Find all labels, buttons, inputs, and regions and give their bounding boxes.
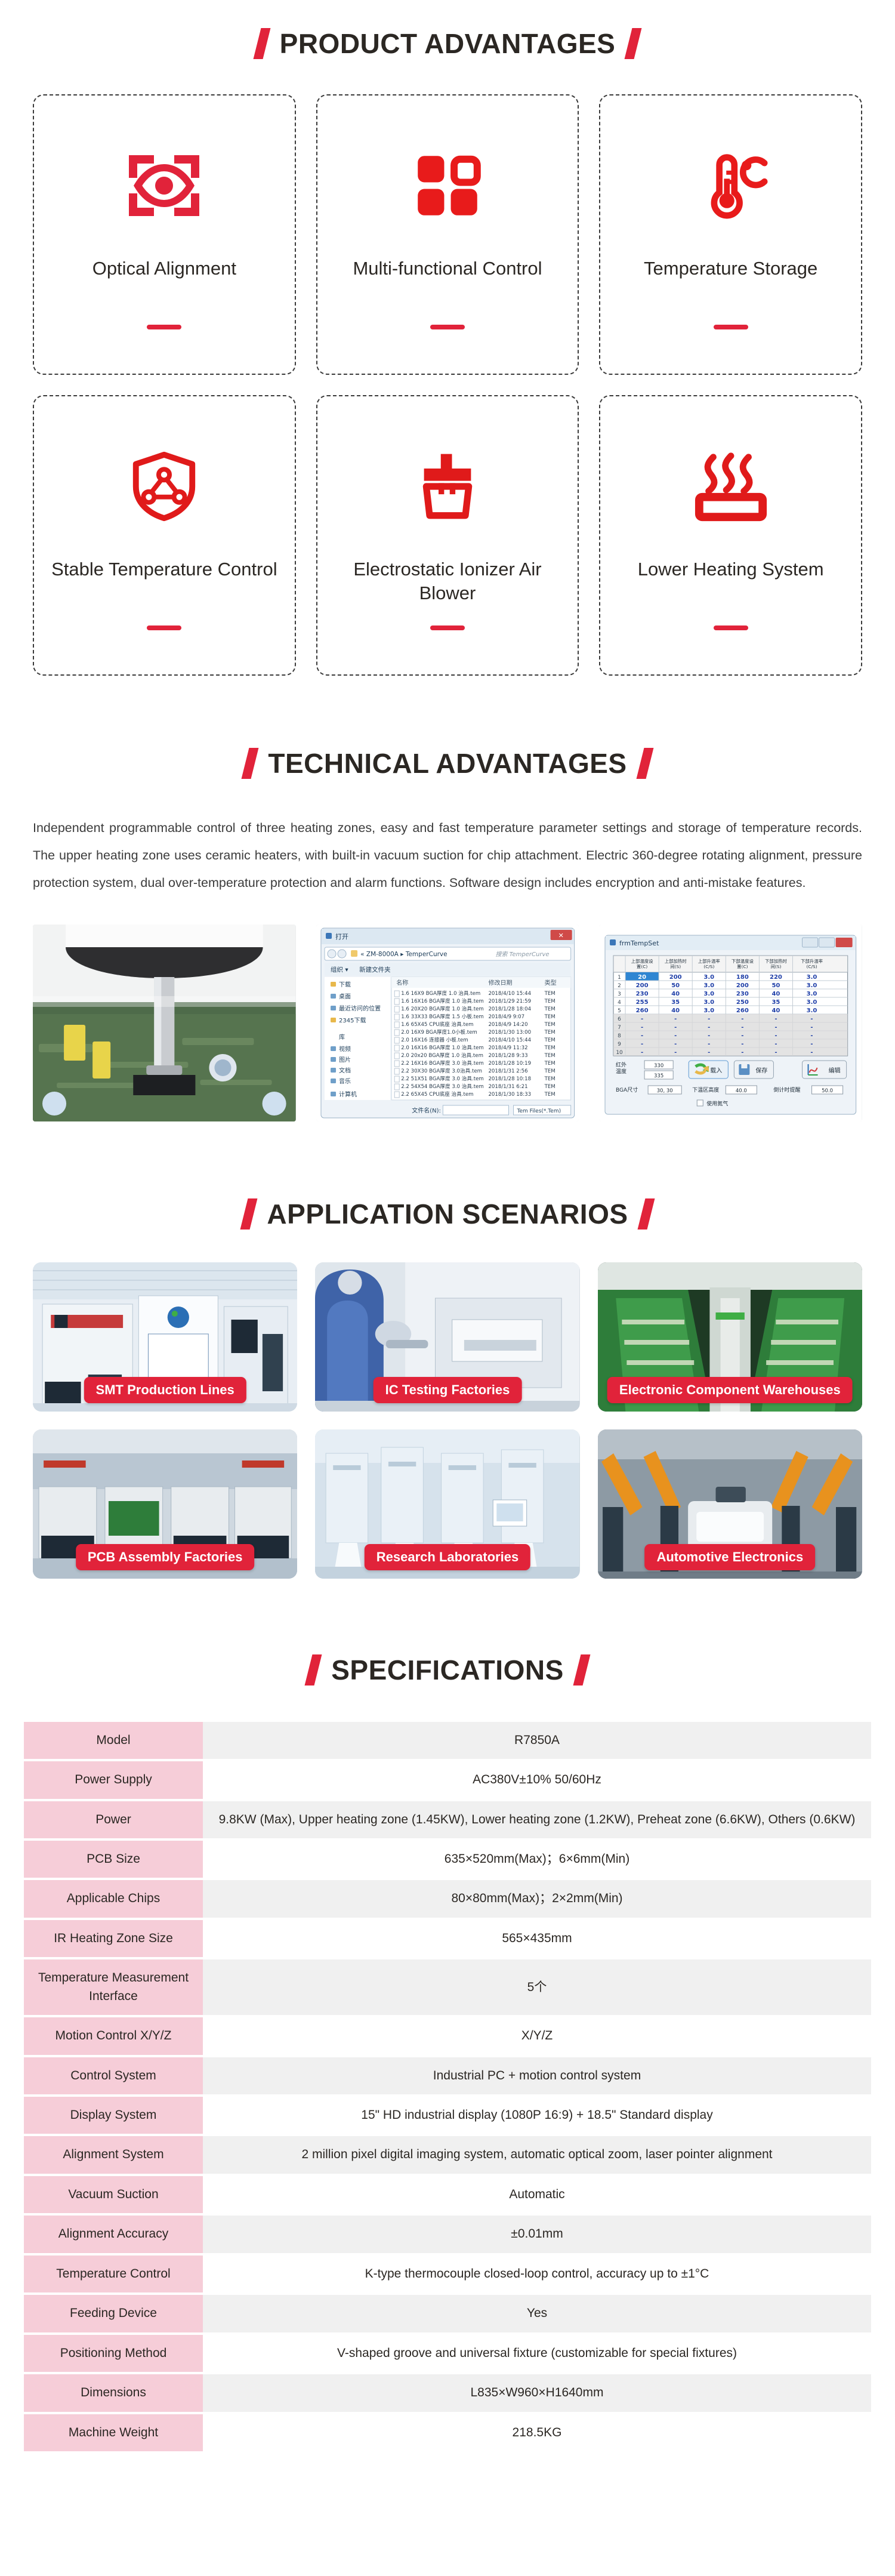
table-row: Motion Control X/Y/Z X/Y/Z bbox=[24, 2017, 871, 2054]
spec-value: Yes bbox=[203, 2295, 871, 2332]
spec-key: Applicable Chips bbox=[24, 1880, 203, 1917]
svg-text:40: 40 bbox=[672, 1007, 680, 1014]
temperature-storage-icon bbox=[694, 141, 768, 230]
app-card-ic-testing-factories[interactable]: IC Testing Factories bbox=[315, 1262, 579, 1412]
svg-text:2.2 16X16 BGA厚度 3.0 治具.tem: 2.2 16X16 BGA厚度 3.0 治具.tem bbox=[401, 1059, 484, 1067]
svg-text:TEM: TEM bbox=[544, 991, 555, 997]
feature-card-stable-temperature-control[interactable]: Stable Temperature Control bbox=[33, 395, 296, 676]
svg-text:40.0: 40.0 bbox=[736, 1088, 747, 1094]
svg-text:TEM: TEM bbox=[544, 1053, 555, 1059]
svg-text:修改日期: 修改日期 bbox=[488, 979, 512, 987]
svg-text:7: 7 bbox=[618, 1025, 622, 1031]
spec-value: 15" HD industrial display (1080P 16:9) +… bbox=[203, 2097, 871, 2134]
svg-text:音乐: 音乐 bbox=[339, 1077, 351, 1085]
svg-text:3.0: 3.0 bbox=[704, 991, 715, 997]
svg-text:组织 ▾: 组织 ▾ bbox=[331, 966, 348, 973]
svg-text:红外: 红外 bbox=[616, 1061, 626, 1068]
svg-text:上部加热时: 上部加热时 bbox=[665, 959, 687, 964]
slash-left-icon bbox=[305, 1654, 322, 1686]
svg-text:1.6 16X16 BGA厚度 1.0 治具.tem: 1.6 16X16 BGA厚度 1.0 治具.tem bbox=[401, 997, 484, 1004]
multi-functional-control-icon bbox=[412, 141, 483, 230]
svg-text:230: 230 bbox=[636, 991, 649, 997]
svg-text:20: 20 bbox=[638, 974, 646, 981]
svg-text:名称: 名称 bbox=[396, 979, 408, 987]
svg-text:2.2 30X30 BGA厚度 3.0治具.tem: 2.2 30X30 BGA厚度 3.0治具.tem bbox=[401, 1067, 482, 1074]
svg-text:TEM: TEM bbox=[544, 1084, 555, 1090]
spec-key: Temperature Measurement Interface bbox=[24, 1959, 203, 2015]
svg-text:2.0 20x20 BGA厚度 1.0 治具.tem: 2.0 20x20 BGA厚度 1.0 治具.tem bbox=[401, 1052, 483, 1059]
svg-text:2018/4/9 11:32: 2018/4/9 11:32 bbox=[488, 1045, 527, 1051]
spec-key: Feeding Device bbox=[24, 2295, 203, 2332]
svg-text:1.6 20X20 BGA厚度 1.0 治具.tem: 1.6 20X20 BGA厚度 1.0 治具.tem bbox=[401, 1005, 484, 1012]
svg-text:2.2 54X54 BGA厚度 3.0 治具.tem: 2.2 54X54 BGA厚度 3.0 治具.tem bbox=[401, 1083, 484, 1090]
spec-key: Model bbox=[24, 1722, 203, 1759]
table-row: Vacuum Suction Automatic bbox=[24, 2176, 871, 2213]
temperature-curve-file-dialog-screenshot: 打开 ✕ « ZM-8000A ▸ TemperCurve 搜索 TemperC… bbox=[316, 925, 579, 1121]
svg-text:3.0: 3.0 bbox=[807, 999, 817, 1006]
svg-text:40: 40 bbox=[772, 1007, 780, 1014]
svg-text:2018/1/28 10:19: 2018/1/28 10:19 bbox=[488, 1061, 531, 1067]
svg-text:类型: 类型 bbox=[544, 979, 556, 987]
svg-text:TEM: TEM bbox=[544, 1030, 555, 1036]
svg-text:180: 180 bbox=[736, 974, 749, 981]
spec-key: Display System bbox=[24, 2097, 203, 2134]
feature-label: Electrostatic Ionizer Air Blower bbox=[332, 557, 564, 605]
svg-text:50: 50 bbox=[772, 982, 780, 989]
nozzle-over-pcb-photo bbox=[33, 925, 296, 1121]
app-card-label: Research Laboratories bbox=[365, 1544, 530, 1570]
svg-text:330: 330 bbox=[654, 1063, 663, 1069]
svg-text:-: - bbox=[775, 1024, 777, 1031]
svg-text:-: - bbox=[811, 1016, 813, 1022]
stable-temperature-control-icon bbox=[126, 442, 202, 531]
spec-key: PCB Size bbox=[24, 1841, 203, 1878]
technical-advantages-section: TECHNICAL ADVANTAGES Independent program… bbox=[0, 747, 895, 1121]
svg-text:TEM: TEM bbox=[544, 1014, 555, 1020]
table-row: Temperature Control K-type thermocouple … bbox=[24, 2255, 871, 2292]
svg-text:260: 260 bbox=[736, 1007, 749, 1014]
spec-key: Power bbox=[24, 1801, 203, 1838]
table-row: Alignment System 2 million pixel digital… bbox=[24, 2136, 871, 2173]
svg-text:3.0: 3.0 bbox=[807, 1007, 817, 1014]
svg-text:TEM: TEM bbox=[544, 1022, 555, 1028]
spec-key: Vacuum Suction bbox=[24, 2176, 203, 2213]
svg-text:置(C): 置(C) bbox=[637, 964, 647, 969]
svg-text:220: 220 bbox=[770, 974, 782, 981]
svg-text:3.0: 3.0 bbox=[807, 982, 817, 989]
svg-text:255: 255 bbox=[636, 999, 649, 1006]
svg-text:200: 200 bbox=[736, 982, 749, 989]
table-row: PCB Size 635×520mm(Max)；6×6mm(Min) bbox=[24, 1841, 871, 1878]
svg-text:-: - bbox=[641, 1033, 643, 1039]
svg-text:上部温度设: 上部温度设 bbox=[631, 959, 654, 964]
svg-text:-: - bbox=[742, 1041, 744, 1047]
temperature-profile-settings-screenshot: frmTempSet 上部温度设置(C) 上部加热时间(S) 上部升温率(C/S… bbox=[599, 925, 862, 1121]
app-card-automotive-electronics[interactable]: Automotive Electronics bbox=[598, 1429, 862, 1579]
svg-text:-: - bbox=[674, 1049, 677, 1056]
svg-text:2: 2 bbox=[618, 983, 622, 989]
feature-card-row-2: Stable Temperature Control Electrostatic… bbox=[0, 395, 895, 676]
feature-card-lower-heating-system[interactable]: Lower Heating System bbox=[599, 395, 862, 676]
svg-text:-: - bbox=[674, 1016, 677, 1022]
svg-text:TEM: TEM bbox=[544, 1092, 555, 1098]
svg-text:图片: 图片 bbox=[339, 1056, 351, 1064]
feature-card-multi-functional-control[interactable]: Multi-functional Control bbox=[316, 94, 579, 375]
slash-left-icon bbox=[242, 748, 259, 779]
svg-text:2018/1/29 21:59: 2018/1/29 21:59 bbox=[488, 999, 531, 1004]
feature-underline bbox=[714, 625, 748, 630]
svg-text:2018/1/31 6:21: 2018/1/31 6:21 bbox=[488, 1084, 527, 1090]
svg-text:下部加热时: 下部加热时 bbox=[765, 959, 788, 964]
spec-key: Power Supply bbox=[24, 1761, 203, 1798]
specifications-section: SPECIFICATIONS Model R7850A Power Supply… bbox=[0, 1654, 895, 2454]
product-advantages-section: PRODUCT ADVANTAGES Optical Alignment bbox=[0, 0, 895, 676]
svg-text:-: - bbox=[742, 1016, 744, 1022]
svg-text:2018/1/30 13:00: 2018/1/30 13:00 bbox=[488, 1030, 531, 1036]
svg-text:2018/1/28 10:18: 2018/1/28 10:18 bbox=[488, 1076, 531, 1082]
svg-text:TEM: TEM bbox=[544, 1037, 555, 1043]
app-card-smt-production-lines[interactable]: SMT Production Lines bbox=[33, 1262, 297, 1412]
svg-text:200: 200 bbox=[669, 974, 682, 981]
spec-key: Temperature Control bbox=[24, 2255, 203, 2292]
svg-text:260: 260 bbox=[636, 1007, 649, 1014]
feature-label: Multi-functional Control bbox=[353, 257, 542, 281]
svg-text:3.0: 3.0 bbox=[704, 974, 715, 981]
spec-value: 5个 bbox=[203, 1959, 871, 2015]
svg-text:3.0: 3.0 bbox=[704, 982, 715, 989]
slash-right-icon bbox=[625, 28, 642, 59]
svg-text:-: - bbox=[708, 1016, 711, 1022]
svg-text:-: - bbox=[775, 1016, 777, 1022]
spec-value: AC380V±10% 50/60Hz bbox=[203, 1761, 871, 1798]
feature-card-electrostatic-ionizer[interactable]: Electrostatic Ionizer Air Blower bbox=[316, 395, 579, 676]
spec-value: Industrial PC + motion control system bbox=[203, 2057, 871, 2094]
svg-text:倒计时提醒: 倒计时提醒 bbox=[774, 1086, 801, 1093]
table-row: Dimensions L835×W960×H1640mm bbox=[24, 2374, 871, 2411]
svg-text:编辑: 编辑 bbox=[829, 1067, 841, 1074]
svg-text:250: 250 bbox=[736, 999, 749, 1006]
svg-text:-: - bbox=[641, 1024, 643, 1031]
svg-text:库: 库 bbox=[339, 1033, 345, 1041]
svg-text:40: 40 bbox=[772, 991, 780, 997]
lower-heating-system-icon bbox=[693, 442, 769, 531]
svg-text:文件名(N):: 文件名(N): bbox=[412, 1107, 441, 1114]
svg-text:TEM: TEM bbox=[544, 1045, 555, 1051]
svg-text:-: - bbox=[641, 1041, 643, 1047]
svg-text:200: 200 bbox=[636, 982, 649, 989]
svg-text:TEM: TEM bbox=[544, 1076, 555, 1082]
svg-text:« ZM-8000A ▸ TemperCurve: « ZM-8000A ▸ TemperCurve bbox=[360, 951, 447, 958]
slash-left-icon bbox=[240, 1198, 258, 1230]
spec-key: Alignment Accuracy bbox=[24, 2216, 203, 2253]
svg-text:9: 9 bbox=[618, 1042, 622, 1047]
app-card-pcb-assembly-factories[interactable]: PCB Assembly Factories bbox=[33, 1429, 297, 1579]
table-row: IR Heating Zone Size 565×435mm bbox=[24, 1920, 871, 1957]
slash-right-icon bbox=[636, 748, 653, 779]
table-row: Alignment Accuracy ±0.01mm bbox=[24, 2216, 871, 2253]
application-card-row-1: SMT Production Lines IC Testing Factorie… bbox=[0, 1262, 895, 1412]
slash-right-icon bbox=[573, 1654, 590, 1686]
svg-text:2018/1/31 2:56: 2018/1/31 2:56 bbox=[488, 1068, 527, 1074]
product-advantages-heading: PRODUCT ADVANTAGES bbox=[0, 27, 895, 60]
svg-text:TEM: TEM bbox=[544, 1061, 555, 1067]
svg-text:-: - bbox=[708, 1049, 711, 1056]
electrostatic-ionizer-icon bbox=[412, 442, 483, 531]
svg-text:(C/S): (C/S) bbox=[807, 964, 817, 969]
svg-text:BGA尺寸: BGA尺寸 bbox=[616, 1086, 638, 1093]
svg-text:间(S): 间(S) bbox=[771, 964, 782, 969]
svg-text:-: - bbox=[708, 1041, 711, 1047]
svg-text:335: 335 bbox=[654, 1073, 663, 1079]
technical-advantages-title: TECHNICAL ADVANTAGES bbox=[268, 747, 626, 779]
svg-text:搜索 TemperCurve: 搜索 TemperCurve bbox=[495, 951, 549, 958]
svg-text:-: - bbox=[811, 1033, 813, 1039]
svg-text:2018/4/10 15:44: 2018/4/10 15:44 bbox=[488, 991, 531, 997]
svg-text:上部升温率: 上部升温率 bbox=[698, 959, 721, 964]
svg-text:保存: 保存 bbox=[756, 1067, 768, 1074]
svg-text:-: - bbox=[811, 1024, 813, 1031]
feature-label: Optical Alignment bbox=[92, 257, 236, 281]
svg-text:文档: 文档 bbox=[339, 1067, 351, 1074]
optical-alignment-icon bbox=[126, 141, 202, 230]
svg-text:-: - bbox=[674, 1024, 677, 1031]
app-card-research-laboratories[interactable]: Research Laboratories bbox=[315, 1429, 579, 1579]
svg-text:2018/1/28 18:04: 2018/1/28 18:04 bbox=[488, 1006, 531, 1012]
svg-text:-: - bbox=[674, 1033, 677, 1039]
svg-text:40: 40 bbox=[672, 991, 680, 997]
svg-text:-: - bbox=[641, 1016, 643, 1022]
table-row: Display System 15" HD industrial display… bbox=[24, 2097, 871, 2134]
svg-text:-: - bbox=[775, 1041, 777, 1047]
application-scenarios-heading: APPLICATION SCENARIOS bbox=[0, 1198, 895, 1230]
svg-text:2018/4/10 15:44: 2018/4/10 15:44 bbox=[488, 1037, 531, 1043]
svg-text:10: 10 bbox=[616, 1050, 624, 1056]
specifications-table: Model R7850A Power Supply AC380V±10% 50/… bbox=[24, 1720, 871, 2454]
svg-text:-: - bbox=[742, 1049, 744, 1056]
table-row: Power 9.8KW (Max), Upper heating zone (1… bbox=[24, 1801, 871, 1838]
spec-key: Dimensions bbox=[24, 2374, 203, 2411]
spec-value: ±0.01mm bbox=[203, 2216, 871, 2253]
svg-text:2.0 16X16 BGA厚度 1.0 治具.tem: 2.0 16X16 BGA厚度 1.0 治具.tem bbox=[401, 1044, 484, 1051]
technical-advantages-paragraph: Independent programmable control of thre… bbox=[33, 814, 862, 897]
svg-text:2.0 16X16 连接器 小板.tem: 2.0 16X16 连接器 小板.tem bbox=[401, 1036, 468, 1043]
svg-text:35: 35 bbox=[772, 999, 780, 1006]
spec-value: R7850A bbox=[203, 1722, 871, 1759]
spec-value: X/Y/Z bbox=[203, 2017, 871, 2054]
svg-text:2.2 65X45 CPU底座 治具.tem: 2.2 65X45 CPU底座 治具.tem bbox=[401, 1090, 473, 1098]
svg-text:下载: 下载 bbox=[339, 981, 351, 988]
application-card-row-2: PCB Assembly Factories bbox=[0, 1429, 895, 1579]
spec-value: 2 million pixel digital imaging system, … bbox=[203, 2136, 871, 2173]
svg-text:置(C): 置(C) bbox=[737, 964, 748, 969]
svg-text:8: 8 bbox=[618, 1033, 622, 1039]
spec-value: 9.8KW (Max), Upper heating zone (1.45KW)… bbox=[203, 1801, 871, 1838]
spec-key: Motion Control X/Y/Z bbox=[24, 2017, 203, 2054]
app-card-label: PCB Assembly Factories bbox=[76, 1544, 255, 1570]
feature-card-temperature-storage[interactable]: Temperature Storage bbox=[599, 94, 862, 375]
svg-text:(C/S): (C/S) bbox=[704, 964, 715, 969]
slash-left-icon bbox=[253, 28, 270, 59]
svg-text:frmTempSet: frmTempSet bbox=[619, 939, 659, 947]
table-row: Control System Industrial PC + motion co… bbox=[24, 2057, 871, 2094]
app-card-label: Automotive Electronics bbox=[644, 1544, 815, 1570]
svg-text:✕: ✕ bbox=[558, 932, 563, 939]
svg-text:2018/1/30 18:33: 2018/1/30 18:33 bbox=[488, 1092, 531, 1098]
table-row: Temperature Measurement Interface 5个 bbox=[24, 1959, 871, 2015]
feature-card-optical-alignment[interactable]: Optical Alignment bbox=[33, 94, 296, 375]
technical-advantages-heading: TECHNICAL ADVANTAGES bbox=[0, 747, 895, 779]
svg-text:1.6 16X9 BGA厚度 1.0 治具.tem: 1.6 16X9 BGA厚度 1.0 治具.tem bbox=[401, 990, 480, 997]
feature-label: Temperature Storage bbox=[644, 257, 817, 281]
svg-text:2018/4/9 9:07: 2018/4/9 9:07 bbox=[488, 1014, 524, 1020]
table-row: Positioning Method V-shaped groove and u… bbox=[24, 2335, 871, 2372]
feature-label: Lower Heating System bbox=[638, 557, 824, 581]
feature-underline bbox=[430, 625, 465, 630]
svg-text:载入: 载入 bbox=[711, 1067, 723, 1074]
svg-text:5: 5 bbox=[618, 1008, 622, 1014]
spec-key: Positioning Method bbox=[24, 2335, 203, 2372]
svg-text:最近访问的位置: 最近访问的位置 bbox=[339, 1004, 381, 1012]
svg-text:TEM: TEM bbox=[544, 1006, 555, 1012]
spec-key: Machine Weight bbox=[24, 2414, 203, 2451]
svg-text:1.6 65X45 CPU底座 治具.tem: 1.6 65X45 CPU底座 治具.tem bbox=[401, 1021, 473, 1028]
application-scenarios-title: APPLICATION SCENARIOS bbox=[267, 1198, 628, 1230]
svg-text:35: 35 bbox=[672, 999, 680, 1006]
table-row: Machine Weight 218.5KG bbox=[24, 2414, 871, 2451]
svg-text:2018/1/28 9:33: 2018/1/28 9:33 bbox=[488, 1053, 527, 1059]
svg-text:下部升温率: 下部升温率 bbox=[801, 959, 823, 964]
svg-text:计算机: 计算机 bbox=[339, 1090, 357, 1098]
svg-text:-: - bbox=[811, 1049, 813, 1056]
spec-key: IR Heating Zone Size bbox=[24, 1920, 203, 1957]
svg-text:打开: 打开 bbox=[335, 932, 348, 941]
app-card-label: IC Testing Factories bbox=[374, 1377, 522, 1403]
svg-text:-: - bbox=[775, 1033, 777, 1039]
svg-text:-: - bbox=[708, 1033, 711, 1039]
table-row: Power Supply AC380V±10% 50/60Hz bbox=[24, 1761, 871, 1798]
svg-text:3.0: 3.0 bbox=[704, 999, 715, 1006]
svg-text:3: 3 bbox=[618, 991, 622, 997]
svg-text:-: - bbox=[742, 1024, 744, 1031]
svg-text:-: - bbox=[674, 1041, 677, 1047]
feature-underline bbox=[147, 325, 181, 329]
svg-text:30, 30: 30, 30 bbox=[657, 1088, 673, 1094]
svg-text:-: - bbox=[811, 1041, 813, 1047]
application-scenarios-section: APPLICATION SCENARIOS bbox=[0, 1198, 895, 1579]
svg-text:2018/4/9 14:20: 2018/4/9 14:20 bbox=[488, 1022, 527, 1028]
specifications-heading: SPECIFICATIONS bbox=[0, 1654, 895, 1686]
svg-text:2345下载: 2345下载 bbox=[339, 1017, 366, 1024]
svg-text:新建文件夹: 新建文件夹 bbox=[359, 966, 391, 973]
app-card-label: Electronic Component Warehouses bbox=[607, 1377, 853, 1403]
svg-text:230: 230 bbox=[736, 991, 749, 997]
svg-text:-: - bbox=[775, 1049, 777, 1056]
svg-text:使用氮气: 使用氮气 bbox=[707, 1100, 729, 1107]
svg-text:2.0 16X9 BGA厚度1.0小板.tem: 2.0 16X9 BGA厚度1.0小板.tem bbox=[401, 1028, 477, 1036]
technical-images-row: 打开 ✕ « ZM-8000A ▸ TemperCurve 搜索 TemperC… bbox=[0, 925, 895, 1121]
table-row: Feeding Device Yes bbox=[24, 2295, 871, 2332]
app-card-label: SMT Production Lines bbox=[84, 1377, 246, 1403]
svg-text:3.0: 3.0 bbox=[807, 991, 817, 997]
svg-text:1.6 33X33 BGA厚度 1.5 小板.tem: 1.6 33X33 BGA厚度 1.5 小板.tem bbox=[401, 1013, 484, 1020]
svg-text:50.0: 50.0 bbox=[822, 1088, 833, 1094]
svg-text:4: 4 bbox=[618, 1000, 622, 1006]
spec-key: Alignment System bbox=[24, 2136, 203, 2173]
svg-text:1: 1 bbox=[618, 975, 622, 981]
svg-text:视频: 视频 bbox=[339, 1045, 351, 1053]
spec-value: 635×520mm(Max)；6×6mm(Min) bbox=[203, 1841, 871, 1878]
specifications-title: SPECIFICATIONS bbox=[331, 1654, 564, 1686]
table-row: Model R7850A bbox=[24, 1722, 871, 1759]
svg-text:Tem Files(*.Tem): Tem Files(*.Tem) bbox=[516, 1108, 561, 1114]
slash-right-icon bbox=[637, 1198, 655, 1230]
svg-text:-: - bbox=[708, 1024, 711, 1031]
spec-value: L835×W960×H1640mm bbox=[203, 2374, 871, 2411]
svg-text:温度: 温度 bbox=[616, 1068, 626, 1075]
feature-label: Stable Temperature Control bbox=[51, 557, 277, 581]
spec-value: 218.5KG bbox=[203, 2414, 871, 2451]
spec-value: 80×80mm(Max)；2×2mm(Min) bbox=[203, 1880, 871, 1917]
svg-text:3.0: 3.0 bbox=[807, 974, 817, 981]
app-card-electronic-component-warehouses[interactable]: Electronic Component Warehouses bbox=[598, 1262, 862, 1412]
feature-card-row-1: Optical Alignment Multi-functional Contr… bbox=[0, 94, 895, 375]
table-row: Applicable Chips 80×80mm(Max)；2×2mm(Min) bbox=[24, 1880, 871, 1917]
svg-text:间(S): 间(S) bbox=[671, 964, 681, 969]
svg-text:-: - bbox=[742, 1033, 744, 1039]
feature-underline bbox=[147, 625, 181, 630]
feature-underline bbox=[430, 325, 465, 329]
spec-value: K-type thermocouple closed-loop control,… bbox=[203, 2255, 871, 2292]
svg-text:-: - bbox=[641, 1049, 643, 1056]
spec-value: 565×435mm bbox=[203, 1920, 871, 1957]
spec-value: V-shaped groove and universal fixture (c… bbox=[203, 2335, 871, 2372]
svg-text:下部温度设: 下部温度设 bbox=[732, 959, 754, 964]
svg-text:3.0: 3.0 bbox=[704, 1007, 715, 1014]
svg-text:2.2 51X51 BGA厚度 3.0 治具.tem: 2.2 51X51 BGA厚度 3.0 治具.tem bbox=[401, 1075, 484, 1082]
svg-text:TEM: TEM bbox=[544, 1068, 555, 1074]
feature-underline bbox=[714, 325, 748, 329]
spec-value: Automatic bbox=[203, 2176, 871, 2213]
svg-text:TEM: TEM bbox=[544, 999, 555, 1004]
svg-text:桌面: 桌面 bbox=[339, 993, 351, 1000]
product-advantages-title: PRODUCT ADVANTAGES bbox=[280, 27, 616, 60]
spec-key: Control System bbox=[24, 2057, 203, 2094]
svg-text:6: 6 bbox=[618, 1016, 622, 1022]
svg-text:50: 50 bbox=[672, 982, 680, 989]
svg-text:下温区高度: 下温区高度 bbox=[693, 1086, 720, 1093]
